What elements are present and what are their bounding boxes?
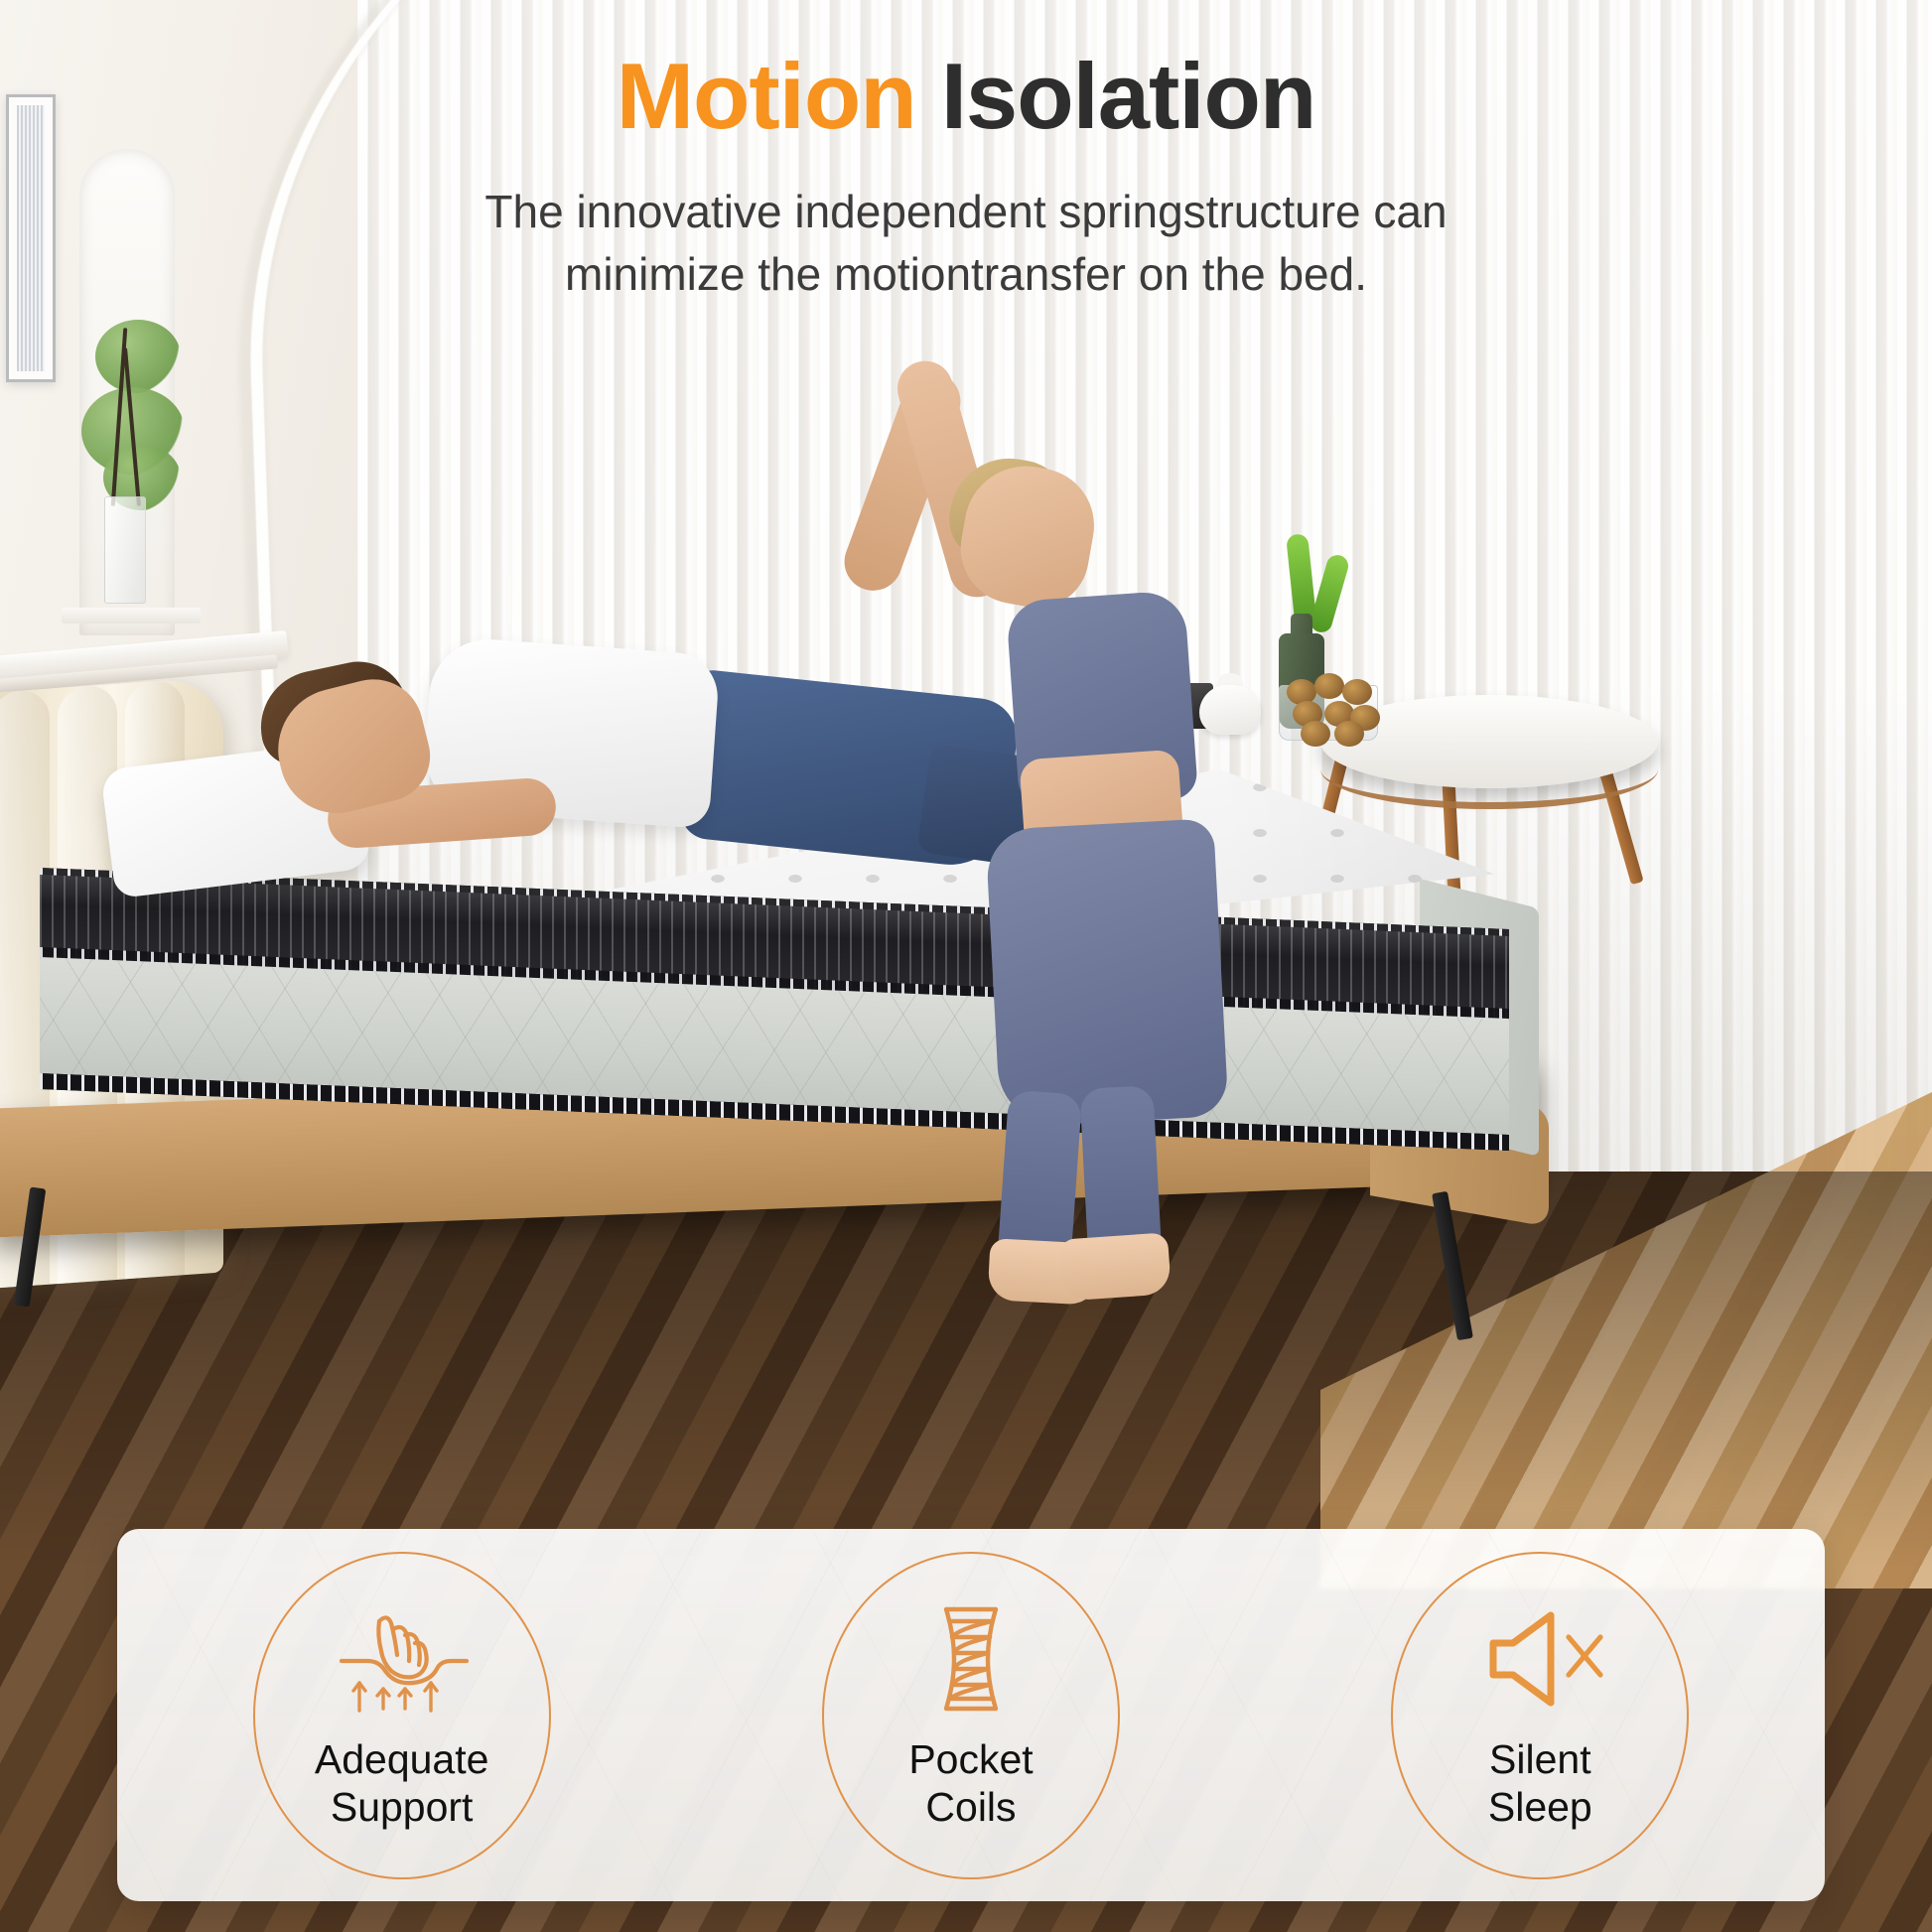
feature-label-line-1: Silent: [1488, 1736, 1592, 1784]
woman-foot: [1058, 1232, 1172, 1302]
hand-press-support-icon: [328, 1599, 477, 1719]
feature-label-line-2: Sleep: [1488, 1784, 1592, 1832]
product-marketing-image: Motion Isolation The innovative independ…: [0, 0, 1932, 1932]
feature-label-adequate-support: Adequate Support: [315, 1736, 489, 1831]
page-title: Motion Isolation: [0, 50, 1932, 143]
feature-label-line-2: Coils: [908, 1784, 1033, 1832]
subtitle-line-1: The innovative independent springstructu…: [0, 181, 1932, 243]
feature-label-line-1: Pocket: [908, 1736, 1033, 1784]
subtitle-line-2: minimize the motiontransfer on the bed.: [0, 243, 1932, 306]
feature-silent-sleep[interactable]: Silent Sleep: [1391, 1552, 1689, 1879]
title-accent-word: Motion: [617, 44, 916, 148]
spring-coil-icon: [897, 1599, 1045, 1719]
feature-label-line-1: Adequate: [315, 1736, 489, 1784]
feature-label-silent-sleep: Silent Sleep: [1488, 1736, 1592, 1831]
feature-card: Adequate Support: [117, 1529, 1825, 1901]
feature-pocket-coils[interactable]: Pocket Coils: [822, 1552, 1120, 1879]
feature-label-pocket-coils: Pocket Coils: [908, 1736, 1033, 1831]
muted-speaker-icon: [1465, 1599, 1614, 1719]
woman-leggings: [985, 818, 1228, 1128]
feature-adequate-support[interactable]: Adequate Support: [253, 1552, 551, 1879]
feature-label-line-2: Support: [315, 1784, 489, 1832]
title-rest-word: Isolation: [941, 44, 1315, 148]
page-subtitle: The innovative independent springstructu…: [0, 181, 1932, 305]
